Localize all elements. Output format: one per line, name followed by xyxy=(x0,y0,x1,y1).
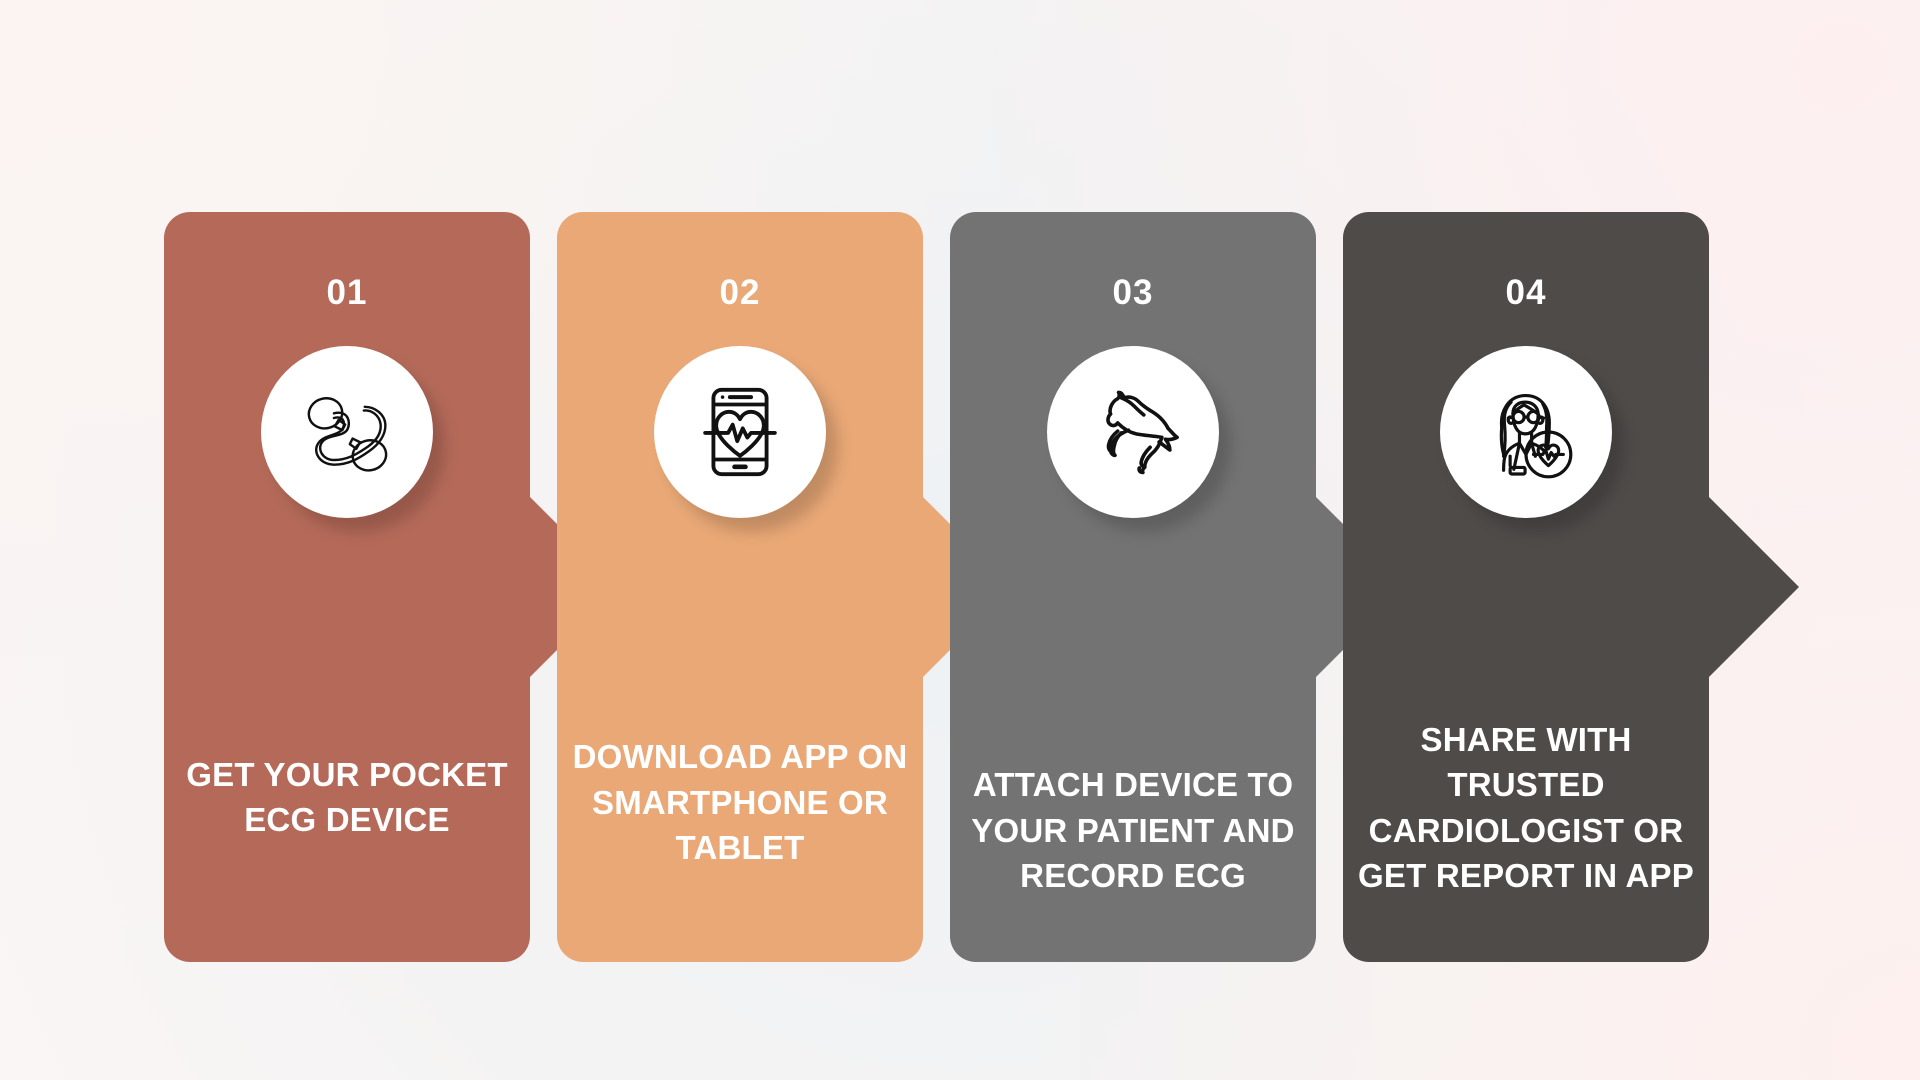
infographic-stage: 01 xyxy=(0,0,1920,1080)
step-caption-03: ATTACH DEVICE TO YOUR PATIENT AND RECORD… xyxy=(950,762,1316,899)
step-caption-01: GET YOUR POCKET ECG DEVICE xyxy=(164,752,530,843)
step-card-02[interactable]: 02 xyxy=(557,212,923,962)
ecg-electrodes-icon xyxy=(291,376,403,488)
cardiologist-heartbeat-icon xyxy=(1470,376,1582,488)
badge-circle xyxy=(654,346,826,518)
badge-circle xyxy=(1047,346,1219,518)
step-caption-04: SHARE WITH TRUSTED CARDIOLOGIST OR GET R… xyxy=(1343,717,1709,899)
step-card-04[interactable]: 04 xyxy=(1343,212,1709,962)
step-icon-badge-03 xyxy=(1047,346,1219,518)
step-icon-badge-01 xyxy=(261,346,433,518)
rearing-horse-icon xyxy=(1079,378,1187,486)
step-caption-02: DOWNLOAD APP ON SMARTPHONE OR TABLET xyxy=(557,734,923,871)
step-arrow-04 xyxy=(1709,495,1799,679)
step-number-01: 01 xyxy=(327,275,368,310)
step-number-03: 03 xyxy=(1113,275,1154,310)
step-icon-badge-04 xyxy=(1440,346,1612,518)
badge-circle xyxy=(1440,346,1612,518)
step-icon-badge-02 xyxy=(654,346,826,518)
badge-circle xyxy=(261,346,433,518)
step-number-04: 04 xyxy=(1506,275,1547,310)
step-number-02: 02 xyxy=(720,275,761,310)
smartphone-heartbeat-icon xyxy=(685,377,795,487)
step-card-01[interactable]: 01 xyxy=(164,212,530,962)
step-card-03[interactable]: 03 xyxy=(950,212,1316,962)
